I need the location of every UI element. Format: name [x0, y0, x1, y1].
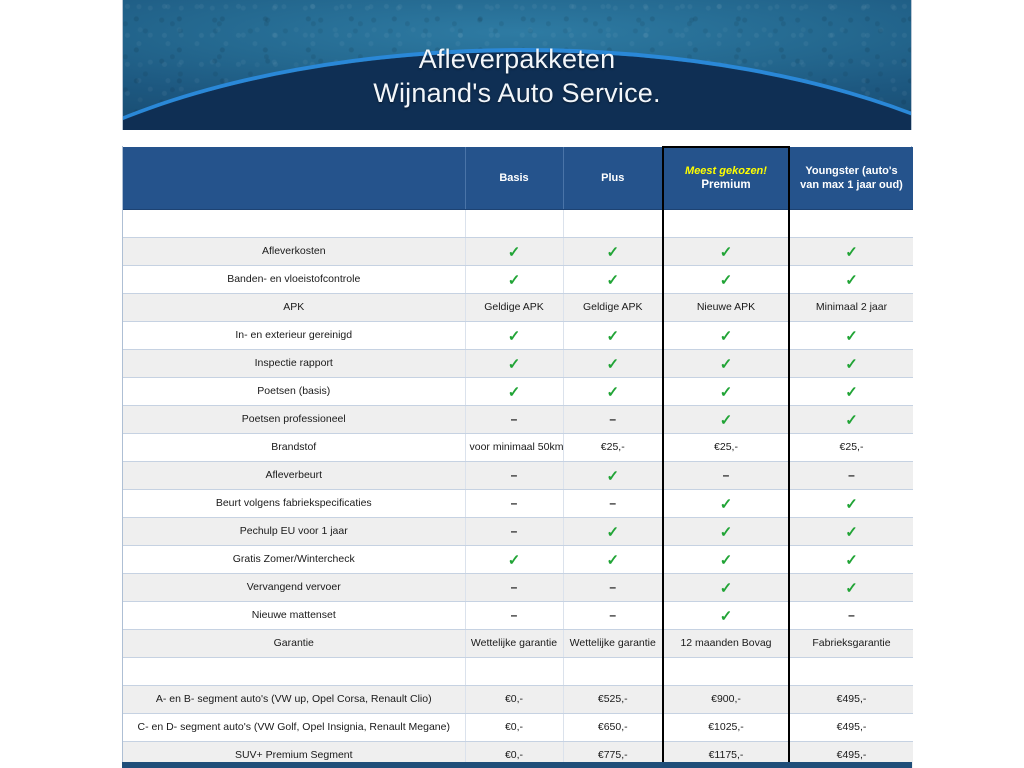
feature-label: A- en B- segment auto's (VW up, Opel Cor…: [123, 685, 465, 713]
value-cell-youngster: €495,-: [789, 685, 913, 713]
feature-label: APK: [123, 293, 465, 321]
value-cell-premium: ✓: [663, 573, 789, 601]
page-root: Afleverpakketen Wijnand's Auto Service. …: [0, 0, 1024, 768]
value-cell-premium: ✓: [663, 237, 789, 265]
value-cell-plus: ✓: [563, 517, 663, 545]
value-cell-basis: ✓: [465, 237, 563, 265]
check-icon: ✓: [720, 329, 733, 344]
check-icon: ✓: [845, 245, 858, 260]
value-cell-plus: ✓: [563, 377, 663, 405]
footer-bar: [122, 762, 912, 768]
value-cell-basis: ✓: [465, 545, 563, 573]
feature-label: Gratis Zomer/Wintercheck: [123, 545, 465, 573]
feature-label: Banden- en vloeistofcontrole: [123, 265, 465, 293]
check-icon: ✓: [720, 581, 733, 596]
check-icon: ✓: [606, 525, 619, 540]
promo-badge: Meest gekozen!: [669, 164, 783, 178]
value-cell-premium: €25,-: [663, 433, 789, 461]
value-cell-youngster: ✓: [789, 377, 913, 405]
value-cell-plus: €650,-: [563, 713, 663, 741]
check-icon: ✓: [606, 329, 619, 344]
value-cell-youngster: €25,-: [789, 433, 913, 461]
feature-label: Poetsen professioneel: [123, 405, 465, 433]
table-row: Gratis Zomer/Wintercheck✓✓✓✓: [123, 545, 913, 573]
value-cell-plus: ✓: [563, 265, 663, 293]
value-cell-basis: –: [465, 517, 563, 545]
value-cell-youngster: ✓: [789, 265, 913, 293]
value-cell-youngster: ✓: [789, 405, 913, 433]
banner-title: Afleverpakketen Wijnand's Auto Service.: [123, 42, 911, 110]
spacer-cell: [123, 657, 465, 685]
table-row: Poetsen professioneel––✓✓: [123, 405, 913, 433]
table-row: Afleverbeurt–✓––: [123, 461, 913, 489]
table-row: A- en B- segment auto's (VW up, Opel Cor…: [123, 685, 913, 713]
dash-icon: –: [609, 609, 616, 621]
check-icon: ✓: [606, 385, 619, 400]
feature-label: Brandstof: [123, 433, 465, 461]
feature-label: C- en D- segment auto's (VW Golf, Opel I…: [123, 713, 465, 741]
banner-title-line1: Afleverpakketen: [419, 44, 616, 74]
dash-icon: –: [511, 609, 518, 621]
package-comparison-table: Basis Plus Meest gekozen! Premium Youngs…: [123, 146, 913, 768]
value-cell-youngster: ✓: [789, 517, 913, 545]
table-row: C- en D- segment auto's (VW Golf, Opel I…: [123, 713, 913, 741]
table-row: Vervangend vervoer––✓✓: [123, 573, 913, 601]
feature-label: Nieuwe mattenset: [123, 601, 465, 629]
table-row: Nieuwe mattenset––✓–: [123, 601, 913, 629]
value-cell-basis: €0,-: [465, 685, 563, 713]
check-icon: ✓: [720, 497, 733, 512]
header-label-basis: Basis: [499, 172, 528, 184]
value-cell-premium: –: [663, 461, 789, 489]
check-icon: ✓: [720, 385, 733, 400]
dash-icon: –: [609, 413, 616, 425]
value-cell-plus: –: [563, 405, 663, 433]
value-cell-premium: ✓: [663, 517, 789, 545]
header-cell-youngster[interactable]: Youngster (auto's van max 1 jaar oud): [789, 147, 913, 209]
value-cell-premium: €900,-: [663, 685, 789, 713]
feature-label: Beurt volgens fabriekspecificaties: [123, 489, 465, 517]
check-icon: ✓: [720, 609, 733, 624]
value-cell-youngster: ✓: [789, 573, 913, 601]
value-cell-premium: ✓: [663, 265, 789, 293]
value-cell-basis: Geldige APK: [465, 293, 563, 321]
value-cell-youngster: ✓: [789, 489, 913, 517]
check-icon: ✓: [845, 497, 858, 512]
value-cell-basis: ✓: [465, 321, 563, 349]
feature-label: Garantie: [123, 629, 465, 657]
spacer-cell: [563, 657, 663, 685]
value-cell-basis: voor minimaal 50km: [465, 433, 563, 461]
table-row: Afleverkosten✓✓✓✓: [123, 237, 913, 265]
dash-icon: –: [609, 581, 616, 593]
value-cell-youngster: ✓: [789, 349, 913, 377]
check-icon: ✓: [845, 385, 858, 400]
value-cell-youngster: €495,-: [789, 713, 913, 741]
value-cell-plus: –: [563, 573, 663, 601]
check-icon: ✓: [606, 469, 619, 484]
feature-label: Poetsen (basis): [123, 377, 465, 405]
value-cell-youngster: –: [789, 601, 913, 629]
check-icon: ✓: [508, 273, 521, 288]
header-label-youngster: Youngster (auto's van max 1 jaar oud): [800, 165, 903, 191]
value-cell-premium: €1025,-: [663, 713, 789, 741]
banner-title-line2: Wijnand's Auto Service.: [123, 76, 911, 110]
value-cell-premium: ✓: [663, 321, 789, 349]
table-row: In- en exterieur gereinigd✓✓✓✓: [123, 321, 913, 349]
check-icon: ✓: [845, 581, 858, 596]
spacer-cell: [123, 209, 465, 237]
value-cell-youngster: ✓: [789, 321, 913, 349]
value-cell-youngster: ✓: [789, 237, 913, 265]
header-cell-premium[interactable]: Meest gekozen! Premium: [663, 147, 789, 209]
dash-icon: –: [723, 469, 730, 481]
value-cell-premium: ✓: [663, 601, 789, 629]
table-row: Beurt volgens fabriekspecificaties––✓✓: [123, 489, 913, 517]
comparison-sheet: Basis Plus Meest gekozen! Premium Youngs…: [122, 146, 912, 768]
feature-label: Pechulp EU voor 1 jaar: [123, 517, 465, 545]
table-row: Brandstofvoor minimaal 50km€25,-€25,-€25…: [123, 433, 913, 461]
value-cell-basis: –: [465, 573, 563, 601]
dash-icon: –: [848, 609, 855, 621]
dash-icon: –: [511, 469, 518, 481]
dash-icon: –: [609, 497, 616, 509]
table-row: Poetsen (basis)✓✓✓✓: [123, 377, 913, 405]
check-icon: ✓: [720, 553, 733, 568]
table-row: GarantieWettelijke garantieWettelijke ga…: [123, 629, 913, 657]
check-icon: ✓: [720, 273, 733, 288]
feature-label: In- en exterieur gereinigd: [123, 321, 465, 349]
value-cell-plus: ✓: [563, 237, 663, 265]
value-cell-youngster: –: [789, 461, 913, 489]
check-icon: ✓: [508, 357, 521, 372]
value-cell-premium: ✓: [663, 545, 789, 573]
value-cell-plus: Wettelijke garantie: [563, 629, 663, 657]
check-icon: ✓: [508, 553, 521, 568]
value-cell-plus: ✓: [563, 461, 663, 489]
check-icon: ✓: [845, 553, 858, 568]
value-cell-plus: ✓: [563, 349, 663, 377]
check-icon: ✓: [720, 245, 733, 260]
header-cell-feature: [123, 147, 465, 209]
spacer-cell: [789, 209, 913, 237]
check-icon: ✓: [508, 385, 521, 400]
check-icon: ✓: [845, 413, 858, 428]
value-cell-basis: ✓: [465, 265, 563, 293]
value-cell-plus: –: [563, 601, 663, 629]
value-cell-youngster: Fabrieksgarantie: [789, 629, 913, 657]
header-row: Basis Plus Meest gekozen! Premium Youngs…: [123, 147, 913, 209]
feature-label: Afleverkosten: [123, 237, 465, 265]
value-cell-basis: –: [465, 461, 563, 489]
spacer-cell: [789, 657, 913, 685]
feature-label: Vervangend vervoer: [123, 573, 465, 601]
check-icon: ✓: [606, 357, 619, 372]
header-cell-plus[interactable]: Plus: [563, 147, 663, 209]
check-icon: ✓: [720, 525, 733, 540]
spacer-cell: [663, 657, 789, 685]
value-cell-youngster: ✓: [789, 545, 913, 573]
check-icon: ✓: [508, 245, 521, 260]
value-cell-premium: ✓: [663, 405, 789, 433]
header-label-plus: Plus: [601, 172, 624, 184]
value-cell-premium: ✓: [663, 377, 789, 405]
feature-label: Afleverbeurt: [123, 461, 465, 489]
value-cell-youngster: Minimaal 2 jaar: [789, 293, 913, 321]
dash-icon: –: [848, 469, 855, 481]
spacer-cell: [465, 209, 563, 237]
spacer-cell: [563, 209, 663, 237]
table-spacer-row: [123, 209, 913, 237]
value-cell-plus: Geldige APK: [563, 293, 663, 321]
dash-icon: –: [511, 413, 518, 425]
value-cell-basis: –: [465, 405, 563, 433]
check-icon: ✓: [606, 273, 619, 288]
table-spacer-row: [123, 657, 913, 685]
value-cell-premium: ✓: [663, 489, 789, 517]
value-cell-plus: ✓: [563, 545, 663, 573]
check-icon: ✓: [720, 357, 733, 372]
dash-icon: –: [511, 497, 518, 509]
header-cell-basis[interactable]: Basis: [465, 147, 563, 209]
value-cell-basis: Wettelijke garantie: [465, 629, 563, 657]
spacer-cell: [663, 209, 789, 237]
value-cell-basis: ✓: [465, 377, 563, 405]
header-label-premium: Premium: [669, 178, 783, 193]
feature-label: Inspectie rapport: [123, 349, 465, 377]
value-cell-plus: €25,-: [563, 433, 663, 461]
value-cell-premium: Nieuwe APK: [663, 293, 789, 321]
value-cell-basis: ✓: [465, 349, 563, 377]
check-icon: ✓: [845, 329, 858, 344]
check-icon: ✓: [508, 329, 521, 344]
value-cell-basis: –: [465, 489, 563, 517]
table-row: Pechulp EU voor 1 jaar–✓✓✓: [123, 517, 913, 545]
table-header: Basis Plus Meest gekozen! Premium Youngs…: [123, 147, 913, 209]
table-row: Inspectie rapport✓✓✓✓: [123, 349, 913, 377]
check-icon: ✓: [845, 357, 858, 372]
check-icon: ✓: [606, 553, 619, 568]
value-cell-premium: 12 maanden Bovag: [663, 629, 789, 657]
check-icon: ✓: [720, 413, 733, 428]
value-cell-plus: ✓: [563, 321, 663, 349]
table-body: Afleverkosten✓✓✓✓Banden- en vloeistofcon…: [123, 209, 913, 768]
check-icon: ✓: [606, 245, 619, 260]
value-cell-premium: ✓: [663, 349, 789, 377]
check-icon: ✓: [845, 273, 858, 288]
value-cell-basis: €0,-: [465, 713, 563, 741]
value-cell-plus: –: [563, 489, 663, 517]
check-icon: ✓: [845, 525, 858, 540]
value-cell-plus: €525,-: [563, 685, 663, 713]
spacer-cell: [465, 657, 563, 685]
dash-icon: –: [511, 581, 518, 593]
table-row: APKGeldige APKGeldige APKNieuwe APKMinim…: [123, 293, 913, 321]
dash-icon: –: [511, 525, 518, 537]
value-cell-basis: –: [465, 601, 563, 629]
header-banner: Afleverpakketen Wijnand's Auto Service.: [122, 0, 912, 130]
table-row: Banden- en vloeistofcontrole✓✓✓✓: [123, 265, 913, 293]
